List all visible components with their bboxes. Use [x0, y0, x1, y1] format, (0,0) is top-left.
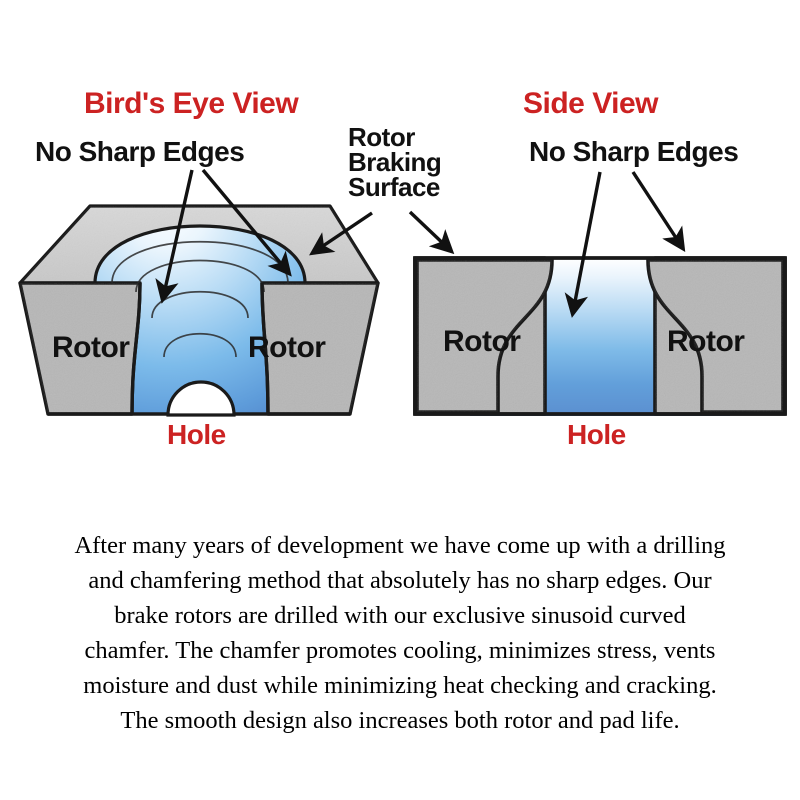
paragraph-line-6: The smooth design also increases both ro…	[8, 703, 792, 738]
paragraph-line-3: brake rotors are drilled with our exclus…	[8, 598, 792, 633]
label-no-sharp-edges-side: No Sharp Edges	[529, 136, 738, 168]
paragraph-line-5: moisture and dust while minimizing heat …	[8, 668, 792, 703]
bird-eye-view-heading: Bird's Eye View	[84, 87, 298, 121]
side-view-heading: Side View	[523, 87, 658, 121]
paragraph-line-1: After many years of development we have …	[8, 528, 792, 563]
label-rotor-bird-left: Rotor	[52, 331, 129, 365]
diagram-canvas: Bird's Eye View Side View No Sharp Edges…	[0, 0, 800, 800]
arrow-no-sharp-edges-side-right	[633, 172, 682, 247]
paragraph-line-4: chamfer. The chamfer promotes cooling, m…	[8, 633, 792, 668]
label-hole-side: Hole	[567, 419, 626, 451]
bird-eye-block	[20, 195, 378, 425]
paragraph-line-2: and chamfering method that absolutely ha…	[8, 563, 792, 598]
label-hole-bird: Hole	[167, 419, 226, 451]
label-rotor-side-left: Rotor	[443, 325, 520, 359]
label-rotor-side-right: Rotor	[667, 325, 744, 359]
arrow-rotor-braking-surface-to-side	[410, 212, 450, 250]
description-paragraph: After many years of development we have …	[8, 528, 792, 738]
label-rotor-braking-surface: Rotor Braking Surface	[348, 125, 441, 200]
label-rotor-bird-right: Rotor	[248, 331, 325, 365]
rbs-line-3: Surface	[348, 175, 441, 200]
label-no-sharp-edges-bird: No Sharp Edges	[35, 136, 244, 168]
